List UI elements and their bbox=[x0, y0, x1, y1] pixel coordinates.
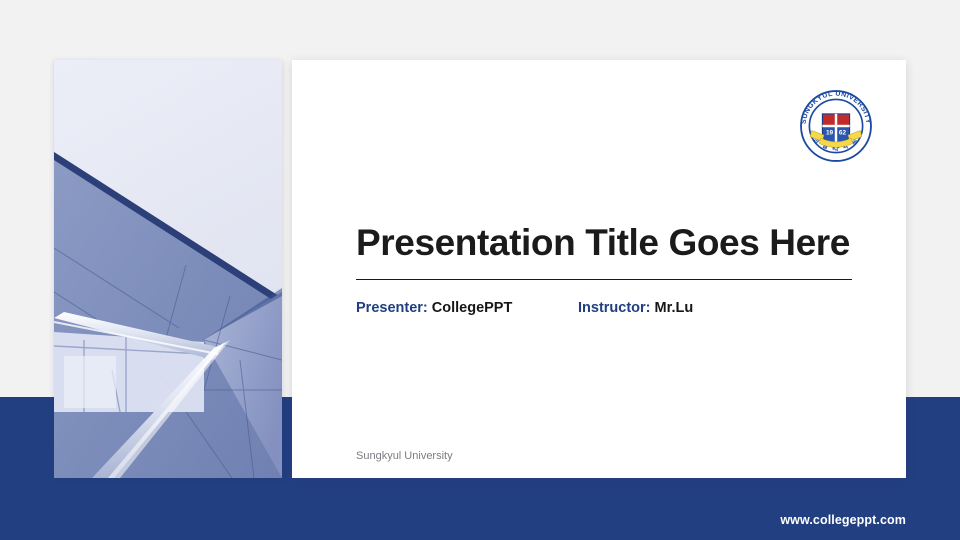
title-block: Presentation Title Goes Here Presenter: … bbox=[356, 222, 854, 316]
page-title: Presentation Title Goes Here bbox=[356, 222, 854, 265]
content-card: SUNGKYUL UNIVERSITY 성 결 대 학 교 19 62 bbox=[292, 60, 906, 478]
university-seal-icon: SUNGKYUL UNIVERSITY 성 결 대 학 교 19 62 bbox=[798, 88, 874, 164]
organization-footer: Sungkyul University bbox=[356, 450, 453, 462]
sungkyul-university-logo-icon: SUNGKYUL UNIVERSITY 성 결 대 학 교 19 62 bbox=[798, 88, 874, 164]
presenter-value: CollegePPT bbox=[432, 300, 513, 316]
svg-text:19: 19 bbox=[826, 129, 834, 136]
title-divider bbox=[356, 279, 852, 280]
instructor-label: Instructor: bbox=[578, 300, 651, 316]
architecture-photo-artwork bbox=[54, 60, 282, 478]
instructor-field: Instructor: Mr.Lu bbox=[578, 300, 693, 316]
website-url: www.collegeppt.com bbox=[780, 513, 906, 527]
architecture-photo bbox=[54, 60, 282, 478]
presenter-label: Presenter: bbox=[356, 300, 428, 316]
svg-text:62: 62 bbox=[839, 129, 847, 136]
meta-row: Presenter: CollegePPT Instructor: Mr.Lu bbox=[356, 300, 854, 316]
presenter-field: Presenter: CollegePPT bbox=[356, 300, 578, 316]
instructor-value: Mr.Lu bbox=[655, 300, 694, 316]
presentation-slide: www.collegeppt.com bbox=[0, 0, 960, 540]
